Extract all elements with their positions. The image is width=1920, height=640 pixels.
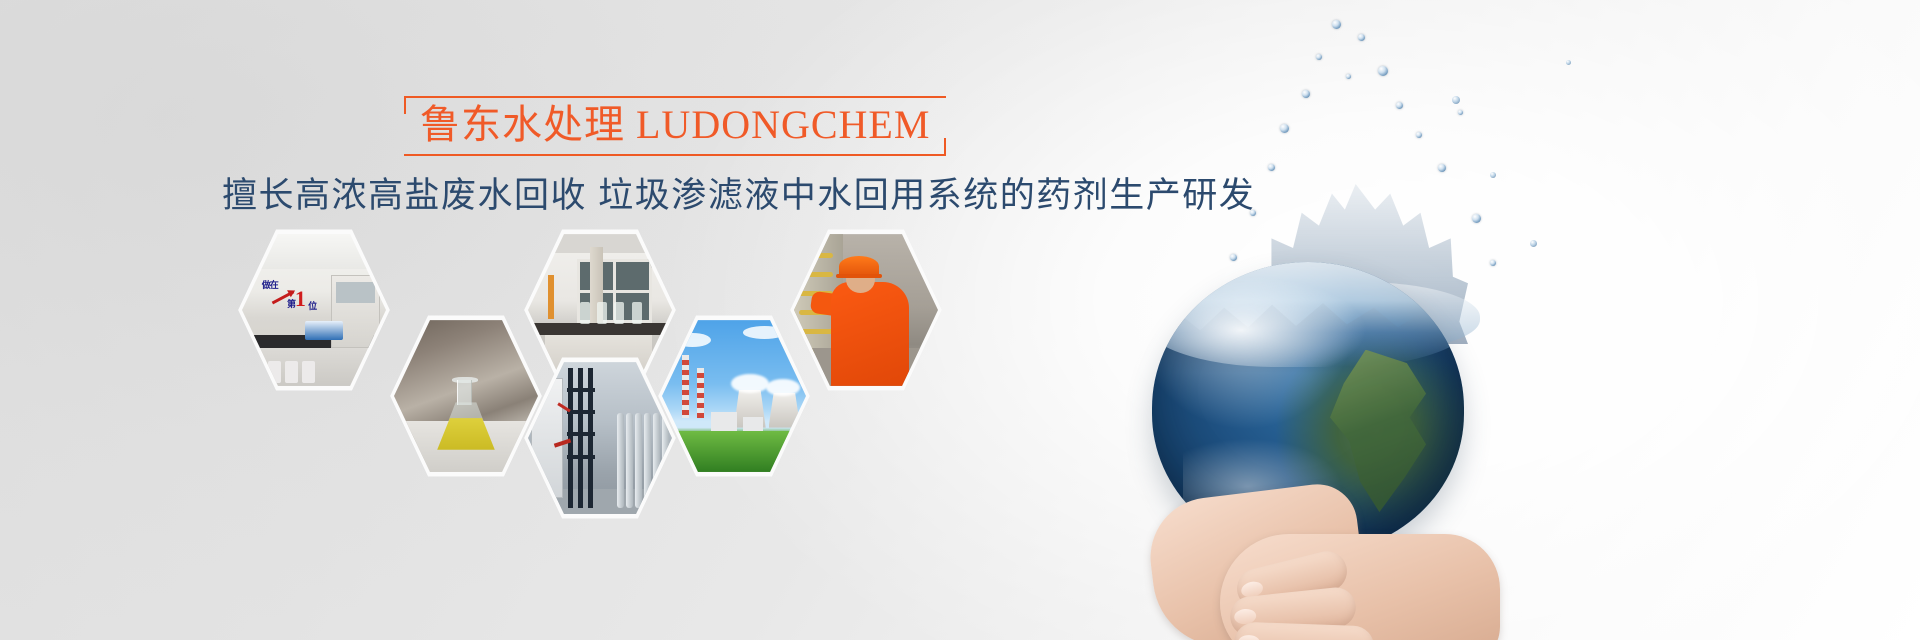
hex-tile-power-plant-field[interactable] bbox=[658, 312, 810, 480]
page-title: 鲁东水处理 LUDONGCHEM bbox=[420, 100, 930, 150]
droplet-speck bbox=[1530, 240, 1537, 247]
hero-banner: 鲁东水处理 LUDONGCHEM 擅长高浓高盐废水回收 垃圾渗滤液中水回用系统的… bbox=[0, 0, 1920, 640]
title-rule-bottom bbox=[404, 154, 946, 156]
hex-photo-ro-membrane-skid bbox=[528, 359, 672, 517]
wall-slogan-graphic: 做在 1 第 位 bbox=[258, 278, 324, 313]
hex-photo-laboratory-slogan-wall: 做在 1 第 位 bbox=[242, 231, 386, 389]
droplet-speck bbox=[1566, 60, 1571, 65]
hands-graphic bbox=[1148, 438, 1520, 640]
water-globe-artwork bbox=[1060, 0, 1620, 640]
title-rule-top bbox=[404, 96, 946, 98]
hex-tile-worker-orange-uniform[interactable] bbox=[790, 226, 942, 394]
droplet-speck bbox=[1490, 172, 1496, 178]
hexagon-photo-cluster: 做在 1 第 位 bbox=[238, 222, 958, 522]
hex-tile-laboratory-slogan-wall[interactable]: 做在 1 第 位 bbox=[238, 226, 390, 394]
hex-photo-yellow-flask bbox=[394, 317, 538, 475]
page-subtitle: 擅长高浓高盐废水回收 垃圾渗滤液中水回用系统的药剂生产研发 bbox=[222, 174, 1012, 218]
droplet-speck bbox=[1452, 96, 1460, 104]
globe-in-hands bbox=[1152, 262, 1482, 562]
title-bracket-frame: 鲁东水处理 LUDONGCHEM bbox=[404, 96, 946, 156]
headline-block: 鲁东水处理 LUDONGCHEM 擅长高浓高盐废水回收 垃圾渗滤液中水回用系统的… bbox=[222, 96, 1012, 218]
bracket-corner-top-left-icon bbox=[404, 96, 424, 114]
hex-tile-yellow-flask[interactable] bbox=[390, 312, 542, 480]
hand-front bbox=[1220, 534, 1500, 640]
hex-tile-ro-membrane-skid[interactable] bbox=[524, 354, 676, 522]
hex-photo-power-plant-field bbox=[662, 317, 806, 475]
hex-photo-worker-orange-uniform bbox=[794, 231, 938, 389]
